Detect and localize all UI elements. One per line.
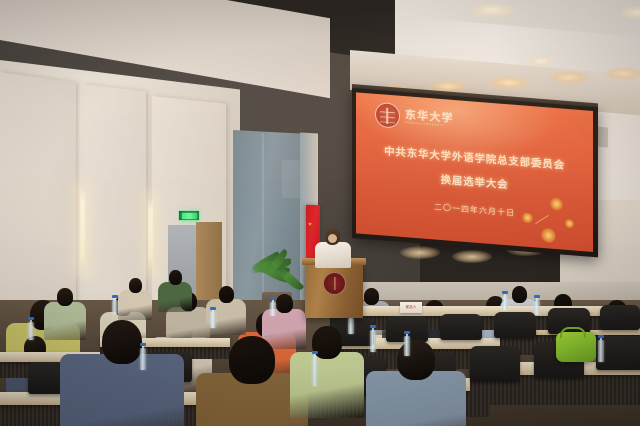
audience-head bbox=[57, 288, 73, 306]
name-card-label: 候选人 bbox=[400, 304, 422, 309]
audience-head bbox=[169, 270, 182, 285]
bottle-cap bbox=[404, 331, 410, 334]
audience-head bbox=[229, 336, 275, 384]
exit-sign-glow-icon bbox=[182, 213, 197, 219]
chair bbox=[600, 305, 640, 330]
audience-member bbox=[366, 340, 466, 426]
bottle-cap bbox=[312, 351, 318, 354]
bottle-cap bbox=[534, 295, 540, 298]
water-bottle bbox=[28, 322, 34, 340]
audience-head bbox=[102, 320, 142, 364]
chair bbox=[470, 346, 520, 382]
audience-member bbox=[60, 320, 184, 426]
audience-torso bbox=[290, 352, 364, 418]
chair bbox=[440, 314, 482, 340]
projection-screen: 东华大学 DONGHUA UNIVERSITY 中共东华大学外语学院总支部委员会… bbox=[352, 88, 598, 257]
chair bbox=[494, 312, 536, 338]
water-bottle bbox=[348, 318, 354, 334]
audience-head bbox=[512, 286, 527, 303]
bottle-cap bbox=[270, 297, 276, 300]
bottle-cap bbox=[370, 325, 376, 328]
university-emblem-icon bbox=[375, 102, 400, 129]
soffit-downlight bbox=[548, 71, 590, 84]
water-bottle bbox=[502, 296, 508, 310]
bottle-cap bbox=[140, 343, 146, 346]
conference-hall-photo: 东华大学 DONGHUA UNIVERSITY 中共东华大学外语学院总支部委员会… bbox=[0, 0, 640, 426]
audience-head bbox=[276, 294, 293, 313]
table-name-card: 候选人 bbox=[400, 302, 422, 313]
audience-head bbox=[219, 286, 234, 303]
audience-head bbox=[129, 278, 142, 293]
bottle-cap bbox=[502, 291, 508, 294]
maple-leaf-icon bbox=[538, 226, 558, 246]
audience-head bbox=[312, 326, 342, 359]
audience-torso bbox=[60, 354, 184, 426]
maple-leaf-icon bbox=[564, 218, 574, 229]
water-bottle bbox=[112, 300, 118, 314]
wall-sconce bbox=[148, 196, 153, 275]
audience-member bbox=[118, 278, 152, 323]
exit-sign bbox=[178, 210, 200, 221]
bottle-cap bbox=[112, 295, 118, 298]
bottle-cap bbox=[28, 317, 34, 320]
water-bottle bbox=[534, 300, 540, 315]
column-seam bbox=[262, 133, 264, 313]
bottle-cap bbox=[598, 335, 604, 338]
balcony-downlight bbox=[452, 250, 492, 263]
soffit-downlight bbox=[604, 67, 640, 80]
speaker-torso bbox=[315, 242, 351, 268]
audience-head bbox=[397, 340, 435, 380]
ceiling-downlight bbox=[470, 2, 516, 18]
water-bottle bbox=[270, 302, 276, 316]
water-bottle bbox=[140, 348, 146, 370]
audience-torso bbox=[158, 282, 192, 312]
podium-emblem-icon bbox=[323, 272, 346, 295]
wall-sconce bbox=[80, 186, 85, 273]
water-bottle bbox=[312, 356, 318, 386]
slide-logo: 东华大学 DONGHUA UNIVERSITY bbox=[375, 102, 454, 133]
audience-member bbox=[290, 326, 364, 425]
bottle-cap bbox=[210, 307, 216, 310]
audience-head bbox=[364, 288, 379, 305]
backpack-strap bbox=[560, 327, 586, 338]
water-bottle bbox=[598, 340, 604, 362]
soffit-downlight bbox=[488, 76, 530, 89]
projected-slide: 东华大学 DONGHUA UNIVERSITY 中共东华大学外语学院总支部委员会… bbox=[356, 92, 593, 252]
speaker-face bbox=[328, 234, 337, 243]
water-bottle bbox=[404, 336, 410, 356]
audience-member bbox=[158, 270, 192, 315]
audience-torso bbox=[118, 290, 152, 320]
water-bottle bbox=[210, 312, 216, 328]
balcony-downlight bbox=[400, 246, 440, 259]
ceiling-downlight bbox=[528, 56, 554, 66]
water-bottle bbox=[370, 330, 376, 352]
